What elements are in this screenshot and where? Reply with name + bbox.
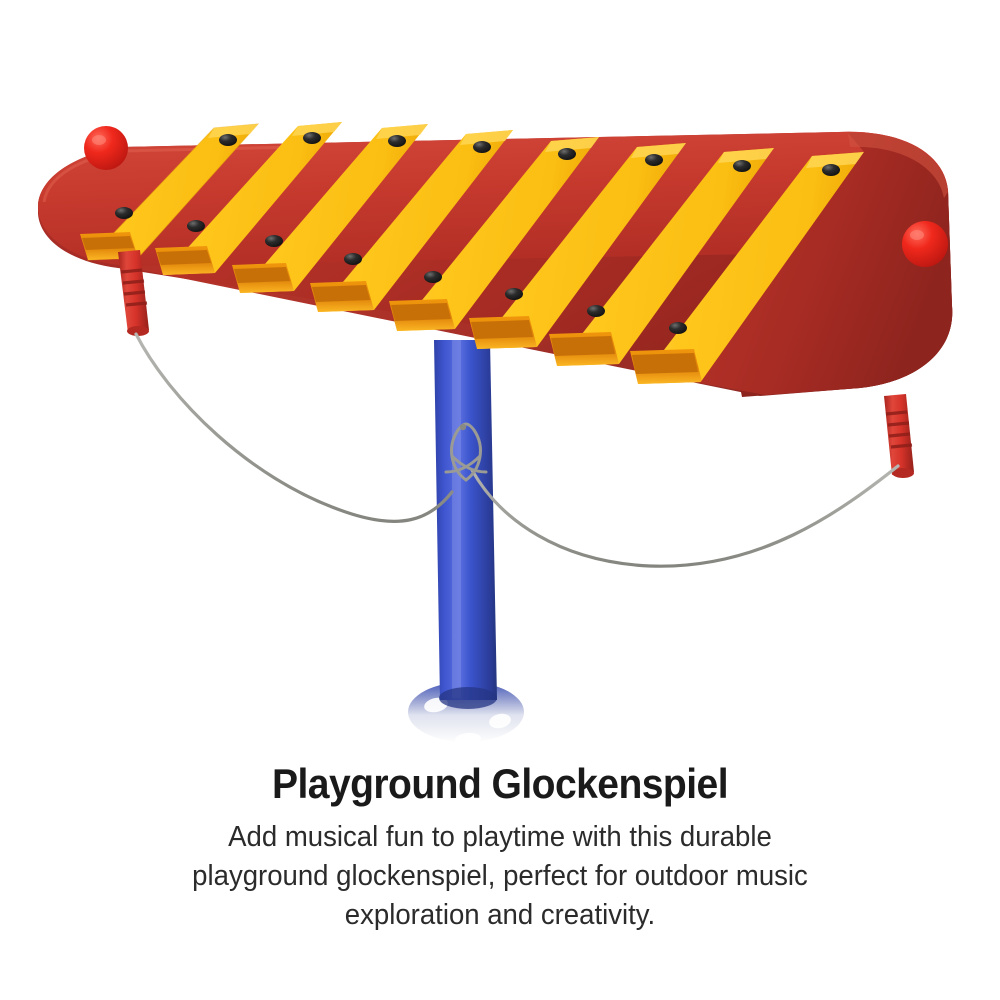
key-bolt-icon [265,235,283,247]
product-page: Playground Glockenspiel Add musical fun … [0,0,1000,1000]
key-bolt-icon [115,207,133,219]
mallet-grip-ring [886,412,907,414]
mallet-grip-ring [889,434,910,436]
key-bolt-icon [733,160,751,172]
key-bolt-icon [424,271,442,283]
glockenspiel-graphic [0,0,1000,770]
mallet-head-highlight [92,135,106,145]
key-bolt-icon [669,322,687,334]
mallet-head-icon[interactable] [84,126,128,170]
key-bolt-icon [187,220,205,232]
product-description: Add musical fun to playtime with this du… [168,818,833,935]
post-highlight [452,340,461,698]
page-title: Playground Glockenspiel [147,758,854,810]
caption-block: Playground Glockenspiel Add musical fun … [0,758,1000,935]
key-bolt-icon [219,134,237,146]
mallet-grip-ring [891,445,912,447]
tether-cable-right [472,466,898,566]
key-bolt-icon [558,148,576,160]
tether-cable-left [136,334,452,521]
post-base-joint [439,687,497,709]
key-bolt-icon [303,132,321,144]
mallet-grip-ring [888,423,909,425]
key-bolt-icon [645,154,663,166]
key-bolt-icon [505,288,523,300]
key-bolt-icon [344,253,362,265]
key-bolt-icon [388,135,406,147]
mallet-grip-ring [121,270,142,272]
product-illustration [0,0,1000,770]
mallet-grip-ring [124,292,145,294]
mallet-head-icon[interactable] [902,221,948,267]
key-bolt-icon [587,305,605,317]
key-bolt-icon [473,141,491,153]
key-bolt-icon [822,164,840,176]
mallet-grip-ring [126,303,147,305]
mallet-head-highlight [910,230,924,240]
post-column [434,340,497,700]
mallet-grip-ring [123,281,144,283]
support-post-group [407,340,525,746]
